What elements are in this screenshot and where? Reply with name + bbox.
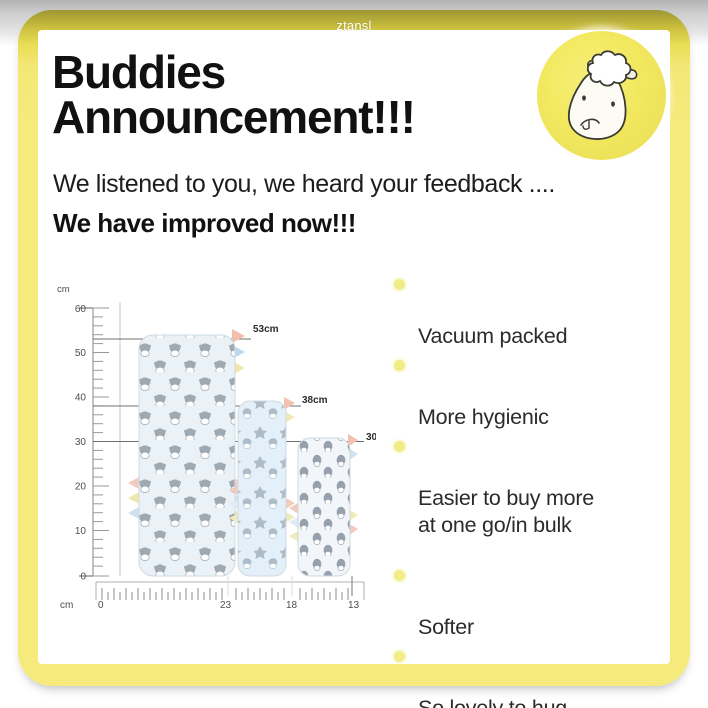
svg-text:30: 30 xyxy=(75,437,87,448)
pillow-size-chart: cm xyxy=(46,270,376,600)
list-item: So lovely to hug xyxy=(386,642,678,708)
x-tick-18: 18 xyxy=(286,600,297,611)
svg-text:0: 0 xyxy=(80,572,86,583)
list-item: More hygienic xyxy=(386,351,678,431)
svg-text:10: 10 xyxy=(75,526,87,537)
svg-text:50: 50 xyxy=(75,348,87,359)
poster-content: Buddies Announcement!!! We listened to y… xyxy=(38,30,670,664)
subtitle-line: We listened to you, we heard your feedba… xyxy=(53,170,555,199)
list-item-label: Softer xyxy=(418,615,474,639)
bullet-dot-icon xyxy=(394,441,405,452)
sheep-logo-icon xyxy=(537,31,666,160)
x-tick-13: 13 xyxy=(348,600,359,611)
svg-text:38cm: 38cm xyxy=(302,395,328,406)
poster-canvas: ztansl Buddies Announcement!!! xyxy=(0,0,708,708)
svg-text:60: 60 xyxy=(75,304,87,315)
list-item-label: Easier to buy more at one go/in bulk xyxy=(418,486,594,537)
list-item: Softer xyxy=(386,561,678,641)
list-item-label: More hygienic xyxy=(418,405,549,429)
bullet-dot-icon xyxy=(394,279,405,290)
list-item-label: So lovely to hug xyxy=(418,696,567,708)
watermark-text: ztansl xyxy=(0,18,708,33)
subtitle-bold-line: We have improved now!!! xyxy=(53,208,356,239)
bullet-group: Softer So lovely to hug xyxy=(386,561,678,708)
svg-text:20: 20 xyxy=(75,482,87,493)
bullet-dot-icon xyxy=(394,570,405,581)
svg-text:40: 40 xyxy=(75,393,87,404)
svg-text:cm: cm xyxy=(57,284,70,295)
bullet-group: Vacuum packed More hygienic Easier to bu… xyxy=(386,270,678,539)
svg-text:53cm: 53cm xyxy=(253,324,279,335)
list-item-label: Vacuum packed xyxy=(418,324,567,348)
bullet-dot-icon xyxy=(394,651,405,662)
x-tick-0: 0 xyxy=(98,600,104,611)
svg-text:30cm: 30cm xyxy=(366,432,376,443)
list-item: Easier to buy more at one go/in bulk xyxy=(386,432,678,539)
bullet-dot-icon xyxy=(394,360,405,371)
x-tick-23: 23 xyxy=(220,600,231,611)
list-item: Vacuum packed xyxy=(386,270,678,350)
x-axis-unit: cm xyxy=(60,600,73,611)
page-title: Buddies Announcement!!! xyxy=(52,50,415,139)
feature-bullet-list: Vacuum packed More hygienic Easier to bu… xyxy=(386,270,678,708)
